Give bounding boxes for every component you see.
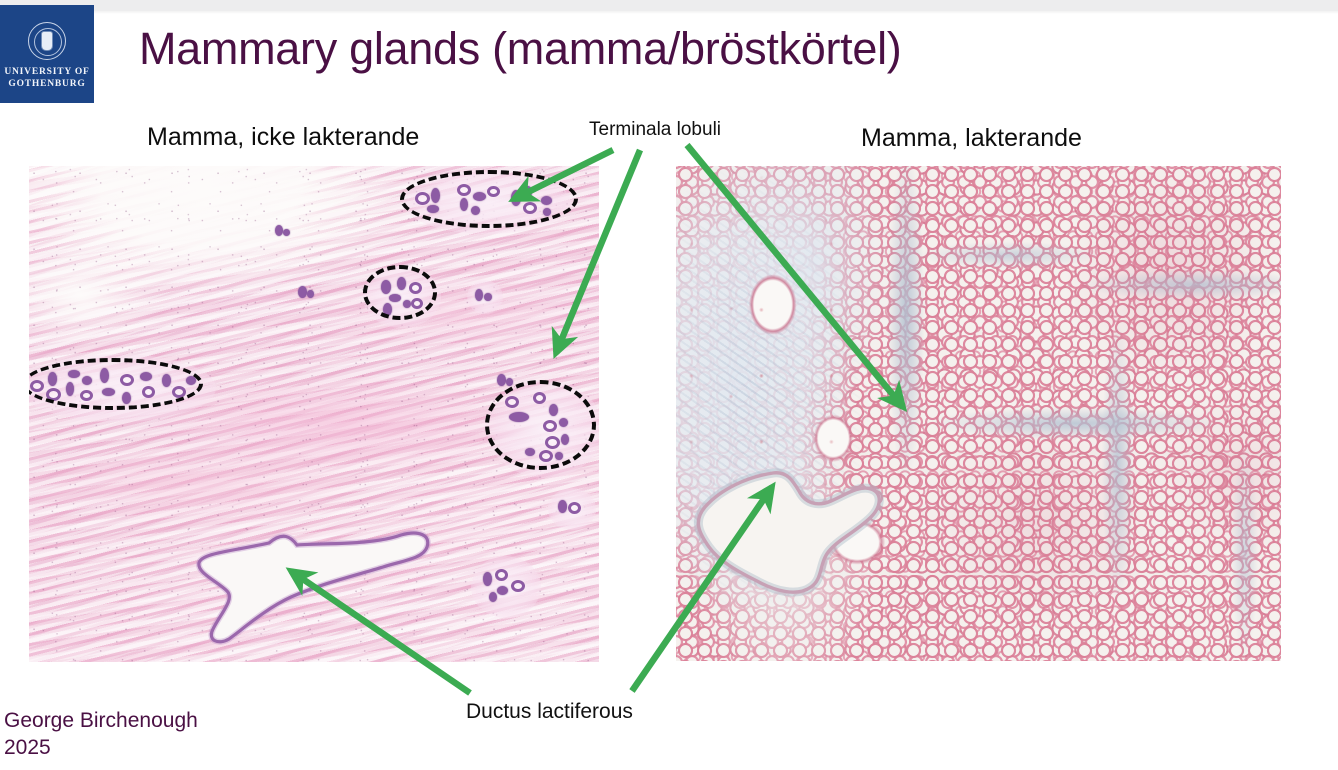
lobule-small-6 xyxy=(274,224,292,240)
logo-line-2: GOTHENBURG xyxy=(8,78,85,90)
lobule-cluster-3 xyxy=(29,364,206,410)
lobule-small-1 xyxy=(296,284,316,302)
lobule-cluster-4 xyxy=(499,390,589,466)
micrograph-non-lactating xyxy=(29,166,599,662)
top-gray-band xyxy=(0,0,1338,11)
micrograph-lactating xyxy=(676,166,1281,661)
slide-canvas: UNIVERSITY OF GOTHENBURG Mammary glands … xyxy=(0,0,1338,770)
university-seal-icon xyxy=(28,22,66,60)
label-terminala-lobuli: Terminala lobuli xyxy=(589,119,721,141)
footer-year: 2025 xyxy=(4,734,198,761)
lobule-small-2 xyxy=(473,286,495,306)
lactiferous-sinus-lumen xyxy=(681,451,916,611)
lobule-cluster-1 xyxy=(411,178,561,226)
lobule-small-5 xyxy=(481,566,529,606)
label-non-lactating: Mamma, icke lakterande xyxy=(147,123,419,152)
label-lactating: Mamma, lakterande xyxy=(861,124,1082,153)
lobule-small-3 xyxy=(495,372,517,392)
lobule-cluster-2 xyxy=(373,274,429,318)
footer: George Birchenough 2025 xyxy=(4,707,198,761)
label-ductus-lactiferous: Ductus lactiferous xyxy=(466,700,633,724)
university-logo: UNIVERSITY OF GOTHENBURG xyxy=(0,5,94,103)
page-title: Mammary glands (mamma/bröstkörtel) xyxy=(139,23,901,75)
lobule-small-4 xyxy=(556,496,586,522)
footer-author: George Birchenough xyxy=(4,707,198,734)
ductus-lactiferous-lumen xyxy=(187,521,434,649)
logo-line-1: UNIVERSITY OF xyxy=(4,66,89,78)
top-band-shadow xyxy=(0,11,1338,14)
